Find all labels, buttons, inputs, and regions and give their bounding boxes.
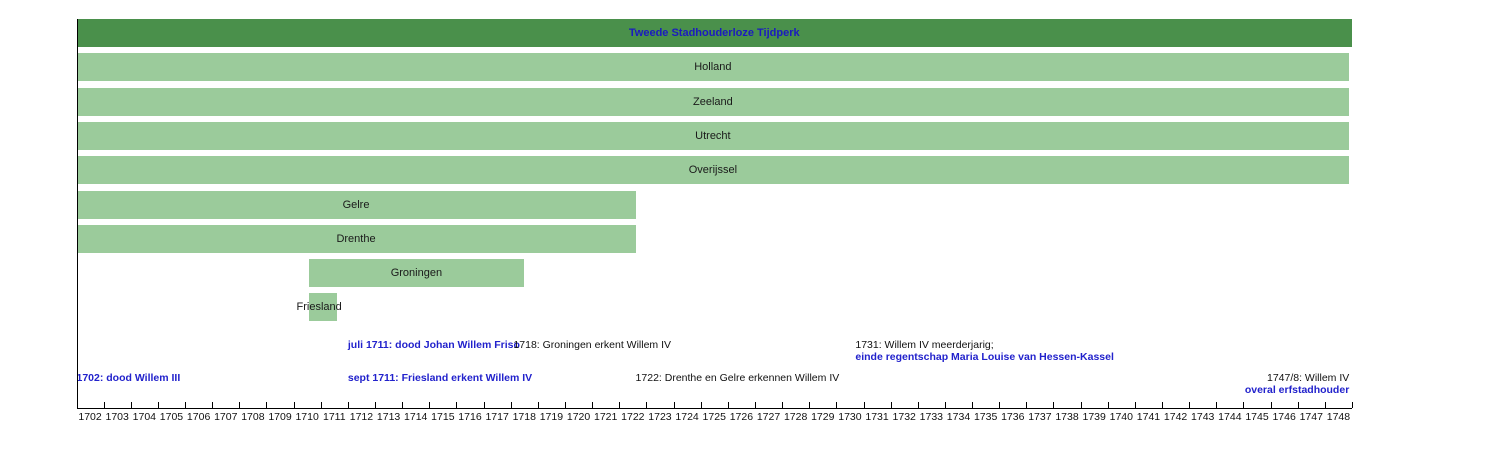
timeline-annotation: 1718: Groningen erkent Willem IV [513,339,671,351]
axis-tick [1135,402,1136,408]
axis-tick [158,402,159,408]
axis-tick [185,402,186,408]
axis-tick [131,402,132,408]
axis-tick-label: 1738 [1053,411,1080,423]
axis-tick [484,402,485,408]
axis-tick [1298,402,1299,408]
axis-tick-label: 1722 [619,411,646,423]
axis-tick-label: 1742 [1162,411,1189,423]
axis-tick-label: 1736 [999,411,1026,423]
bar-label: Zeeland [693,96,733,108]
axis-tick [212,402,213,408]
axis-tick-label: 1739 [1081,411,1108,423]
axis-tick-label: 1704 [131,411,158,423]
axis-tick [348,402,349,408]
axis-tick [945,402,946,408]
timeline-annotation: 1731: Willem IV meerderjarig;einde regen… [855,339,1114,363]
timeline-chart: Tweede Stadhouderloze TijdperkHollandZee… [0,0,1500,450]
axis-tick-label: 1741 [1135,411,1162,423]
axis-tick-label: 1728 [782,411,809,423]
axis-tick [972,402,973,408]
axis-tick-label: 1708 [239,411,266,423]
axis-tick-label: 1707 [212,411,239,423]
axis-tick-label: 1732 [891,411,918,423]
bar-label: Utrecht [695,130,730,142]
axis-tick [1189,402,1190,408]
axis-tick-label: 1706 [185,411,212,423]
axis-tick-label: 1725 [701,411,728,423]
axis-tick [456,402,457,408]
axis-tick-label: 1743 [1189,411,1216,423]
bar-label: Gelre [343,199,370,211]
axis-tick [809,402,810,408]
axis-tick-label: 1714 [402,411,429,423]
axis-tick [674,402,675,408]
timeline-annotation: 1747/8: Willem IVoveral erfstadhouder [1149,372,1349,396]
annotation-line: 1702: dood Willem III [77,372,181,384]
axis-tick-label: 1703 [104,411,131,423]
bar-label: Drenthe [336,233,375,245]
axis-tick [294,402,295,408]
axis-tick [1271,402,1272,408]
bar-label: Groningen [391,267,442,279]
annotation-line: sept 1711: Friesland erkent Willem IV [348,372,532,384]
axis-tick [239,402,240,408]
axis-tick-label: 1702 [77,411,104,423]
timeline-bar-overijssel: Overijssel [77,156,1350,184]
axis-tick-label: 1748 [1325,411,1352,423]
axis-tick [1352,402,1353,408]
axis-tick-label: 1710 [294,411,321,423]
timeline-annotation: 1702: dood Willem III [77,372,181,384]
annotation-line: einde regentschap Maria Louise van Hesse… [855,351,1114,363]
axis-tick-label: 1724 [674,411,701,423]
axis-tick-label: 1735 [972,411,999,423]
axis-tick [375,402,376,408]
bar-label: Tweede Stadhouderloze Tijdperk [629,27,800,39]
axis-tick-label: 1740 [1108,411,1135,423]
axis-tick-label: 1727 [755,411,782,423]
timeline-bar-gelre: Gelre [77,191,636,219]
axis-tick-label: 1746 [1271,411,1298,423]
axis-tick-label: 1723 [646,411,673,423]
axis-tick [999,402,1000,408]
axis-tick [1108,402,1109,408]
axis-vertical-line [77,19,78,408]
timeline-bar-friesland: Friesland [309,293,337,321]
axis-tick [619,402,620,408]
axis-tick [782,402,783,408]
axis-tick-label: 1730 [836,411,863,423]
axis-tick-label: 1712 [348,411,375,423]
axis-tick-label: 1737 [1026,411,1053,423]
axis-tick-label: 1731 [864,411,891,423]
axis-tick-label: 1733 [918,411,945,423]
timeline-bar-tweede-stadhouderloze-tijdperk: Tweede Stadhouderloze Tijdperk [77,19,1353,47]
axis-tick-label: 1705 [158,411,185,423]
axis-tick-label: 1715 [429,411,456,423]
axis-horizontal-line [77,408,1353,409]
axis-tick [1081,402,1082,408]
axis-tick [1053,402,1054,408]
axis-tick [266,402,267,408]
axis-tick-label: 1734 [945,411,972,423]
axis-tick-label: 1720 [565,411,592,423]
annotation-line: 1731: Willem IV meerderjarig; [855,339,1114,351]
axis-tick [1243,402,1244,408]
axis-tick [429,402,430,408]
axis-tick [755,402,756,408]
timeline-bar-groningen: Groningen [309,259,525,287]
annotation-line: 1718: Groningen erkent Willem IV [513,339,671,351]
axis-tick [321,402,322,408]
annotation-line: juli 1711: dood Johan Willem Friso [348,339,520,351]
axis-tick-label: 1744 [1216,411,1243,423]
axis-tick [918,402,919,408]
axis-tick [538,402,539,408]
bar-label: Friesland [297,301,342,313]
axis-tick [701,402,702,408]
axis-tick [511,402,512,408]
timeline-annotation: 1722: Drenthe en Gelre erkennen Willem I… [636,372,840,384]
axis-tick [565,402,566,408]
axis-tick [1216,402,1217,408]
timeline-bar-zeeland: Zeeland [77,88,1350,116]
axis-tick [891,402,892,408]
axis-tick [77,402,78,408]
axis-tick [864,402,865,408]
axis-tick [1162,402,1163,408]
axis-tick [728,402,729,408]
axis-tick [104,402,105,408]
annotation-line: 1747/8: Willem IV [1149,372,1349,384]
axis-tick-label: 1713 [375,411,402,423]
annotation-line: overal erfstadhouder [1149,384,1349,396]
axis-tick-label: 1711 [321,411,348,423]
axis-tick [592,402,593,408]
bar-label: Holland [694,61,731,73]
axis-tick-label: 1718 [511,411,538,423]
axis-tick [646,402,647,408]
axis-tick-label: 1729 [809,411,836,423]
axis-tick-label: 1717 [484,411,511,423]
timeline-bar-holland: Holland [77,53,1350,81]
annotation-line: 1722: Drenthe en Gelre erkennen Willem I… [636,372,840,384]
axis-tick [836,402,837,408]
timeline-annotation: sept 1711: Friesland erkent Willem IV [348,372,532,384]
axis-tick [1325,402,1326,408]
timeline-bar-drenthe: Drenthe [77,225,636,253]
axis-tick [1026,402,1027,408]
axis-tick-label: 1716 [456,411,483,423]
axis-tick-label: 1745 [1243,411,1270,423]
axis-tick [402,402,403,408]
bar-label: Overijssel [689,164,737,176]
timeline-annotation: juli 1711: dood Johan Willem Friso [348,339,520,351]
axis-tick-label: 1719 [538,411,565,423]
axis-tick-label: 1721 [592,411,619,423]
axis-tick-label: 1709 [266,411,293,423]
axis-tick-label: 1747 [1298,411,1325,423]
timeline-bar-utrecht: Utrecht [77,122,1350,150]
axis-tick-label: 1726 [728,411,755,423]
